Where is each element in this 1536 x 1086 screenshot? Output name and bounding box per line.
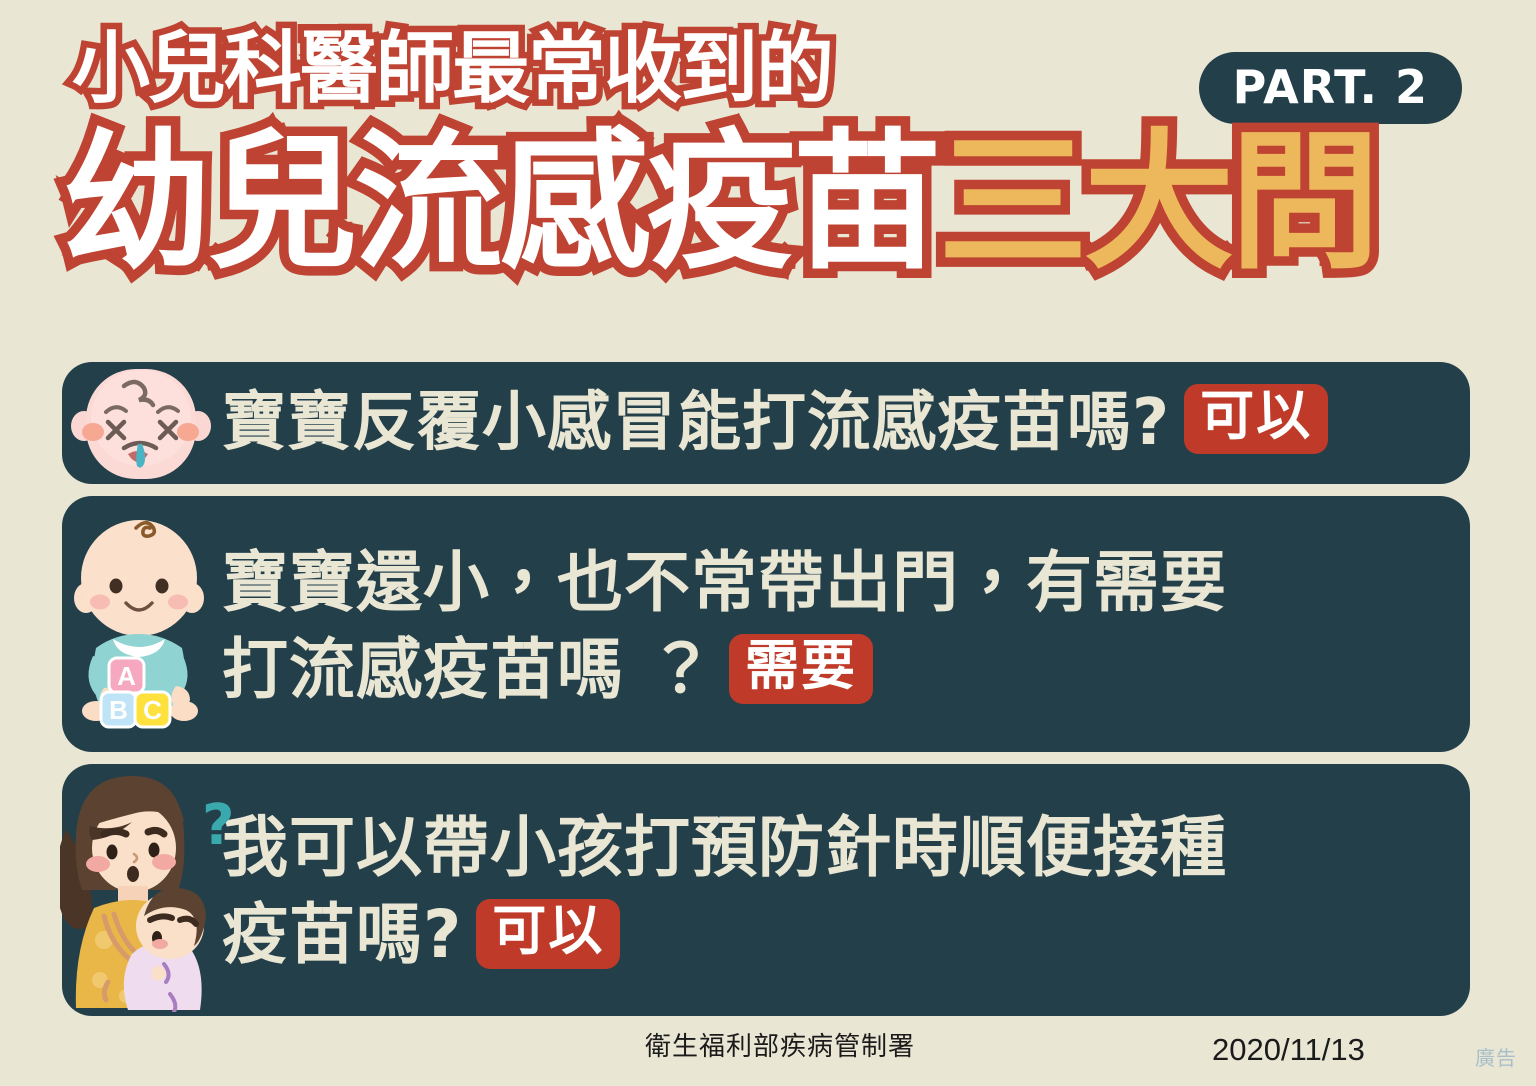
card-3-line2-wrap: 疫苗嗎?可以 — [222, 891, 1450, 978]
footer-agency: 衛生福利部疾病管制署 — [645, 1026, 915, 1063]
card-2-text: 寶寶還小，也不常帶出門，有需要 打流感疫苗嗎 ？需要 — [222, 535, 1470, 713]
block-letter-c: C — [143, 695, 162, 725]
headline-block: 小兒科醫師最常收到的 PART. 2 幼兒流感疫苗三大問 — [62, 30, 1482, 278]
crying-baby-face-icon — [66, 366, 216, 482]
card-1-question-line1: 寶寶反覆小感冒能打流感疫苗嗎? — [222, 386, 1170, 460]
card-2-line2-wrap: 打流感疫苗嗎 ？需要 — [222, 626, 1450, 713]
headline-title-row: 幼兒流感疫苗三大問 — [62, 128, 1482, 278]
question-card-2: A B C 寶寶還小，也不常帶出門，有需要 打流感疫苗嗎 ？需要 — [62, 496, 1470, 752]
card-3-answer-badge: 可以 — [476, 899, 620, 969]
block-letter-a: A — [117, 661, 136, 691]
card-2-question-line1: 寶寶還小，也不常帶出門，有需要 — [222, 544, 1227, 621]
question-mark-icon: ? — [202, 798, 234, 854]
card-3-question-line2: 疫苗嗎? — [222, 896, 462, 973]
footer: 衛生福利部疾病管制署 2020/11/13 — [0, 1012, 1536, 1086]
footer-ad-label: 廣告 — [1475, 1042, 1517, 1071]
baby-with-abc-blocks-icon: A B C — [70, 506, 220, 742]
card-3-art: ? — [62, 764, 222, 1016]
kicker-row: 小兒科醫師最常收到的 PART. 2 — [62, 30, 1482, 124]
headline-title-accent: 三大問 — [938, 116, 1376, 290]
card-2-art: A B C — [62, 496, 222, 752]
poster-root: 小兒科醫師最常收到的 PART. 2 幼兒流感疫苗三大問 — [0, 0, 1536, 1086]
block-letter-b: B — [109, 695, 128, 725]
headline-kicker: 小兒科醫師最常收到的 — [72, 30, 832, 110]
card-1-answer-badge: 可以 — [1184, 384, 1328, 454]
card-3-question-line1: 我可以帶小孩打預防針時順便接種 — [222, 809, 1227, 886]
mother-holding-baby-icon — [60, 768, 225, 1012]
question-card-1: 寶寶反覆小感冒能打流感疫苗嗎?可以 — [62, 362, 1470, 484]
question-card-list: 寶寶反覆小感冒能打流感疫苗嗎?可以 — [62, 362, 1470, 1028]
card-2-answer-badge: 需要 — [729, 634, 873, 704]
card-3-text: 我可以帶小孩打預防針時順便接種 疫苗嗎?可以 — [222, 802, 1470, 978]
headline-title-main: 幼兒流感疫苗 — [62, 116, 938, 290]
card-2-question-line2: 打流感疫苗嗎 ？ — [222, 631, 715, 708]
card-1-art — [62, 362, 222, 484]
question-card-3: ? 我可以帶小孩打預防針時順便接種 疫苗嗎?可以 — [62, 764, 1470, 1016]
footer-date: 2020/11/13 — [1212, 1032, 1365, 1068]
part-badge: PART. 2 — [1199, 52, 1462, 124]
card-1-text: 寶寶反覆小感冒能打流感疫苗嗎?可以 — [222, 381, 1470, 465]
